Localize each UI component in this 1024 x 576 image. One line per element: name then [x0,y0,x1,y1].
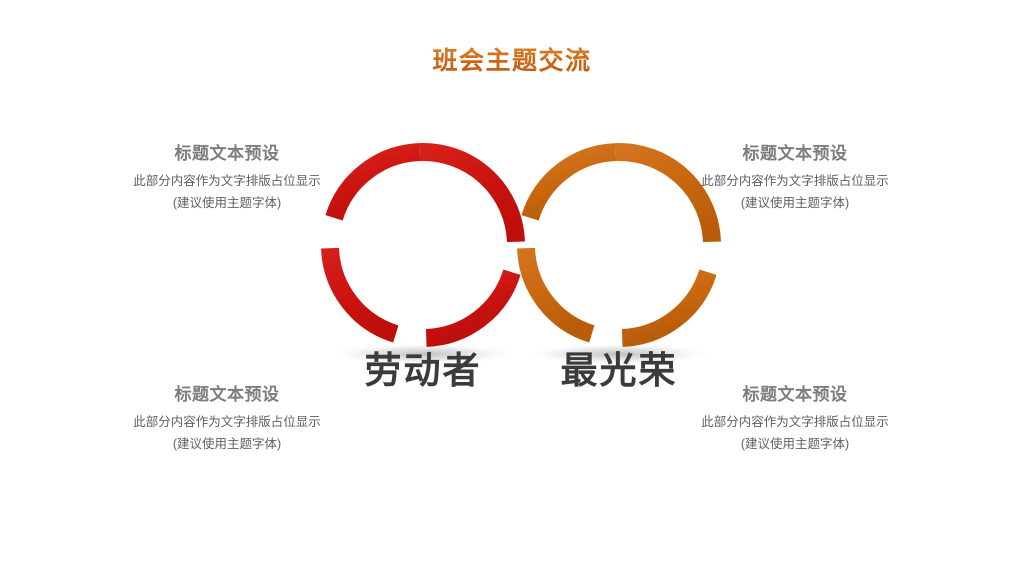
caption-body: 此部分内容作为文字排版占位显示 [680,413,910,432]
caption-note: (建议使用主题字体) [680,435,910,454]
caption-heading: 标题文本预设 [680,143,910,166]
caption-note: (建议使用主题字体) [680,194,910,213]
caption-top-right: 标题文本预设 此部分内容作为文字排版占位显示 (建议使用主题字体) [680,143,910,214]
caption-note: (建议使用主题字体) [112,194,342,213]
caption-body: 此部分内容作为文字排版占位显示 [112,413,342,432]
caption-bottom-right: 标题文本预设 此部分内容作为文字排版占位显示 (建议使用主题字体) [680,384,910,455]
left-ring-label: 劳动者 [333,340,513,394]
caption-note: (建议使用主题字体) [112,435,342,454]
left-ring [321,143,525,347]
caption-heading: 标题文本预设 [680,384,910,407]
caption-heading: 标题文本预设 [112,384,342,407]
caption-body: 此部分内容作为文字排版占位显示 [680,172,910,191]
slide-canvas: 班会主题交流 [0,0,1024,576]
caption-top-left: 标题文本预设 此部分内容作为文字排版占位显示 (建议使用主题字体) [112,143,342,214]
caption-body: 此部分内容作为文字排版占位显示 [112,172,342,191]
ring-diagram: 劳动者 最光荣 [290,118,746,378]
page-title: 班会主题交流 [0,41,1024,77]
caption-bottom-left: 标题文本预设 此部分内容作为文字排版占位显示 (建议使用主题字体) [112,384,342,455]
caption-heading: 标题文本预设 [112,143,342,166]
